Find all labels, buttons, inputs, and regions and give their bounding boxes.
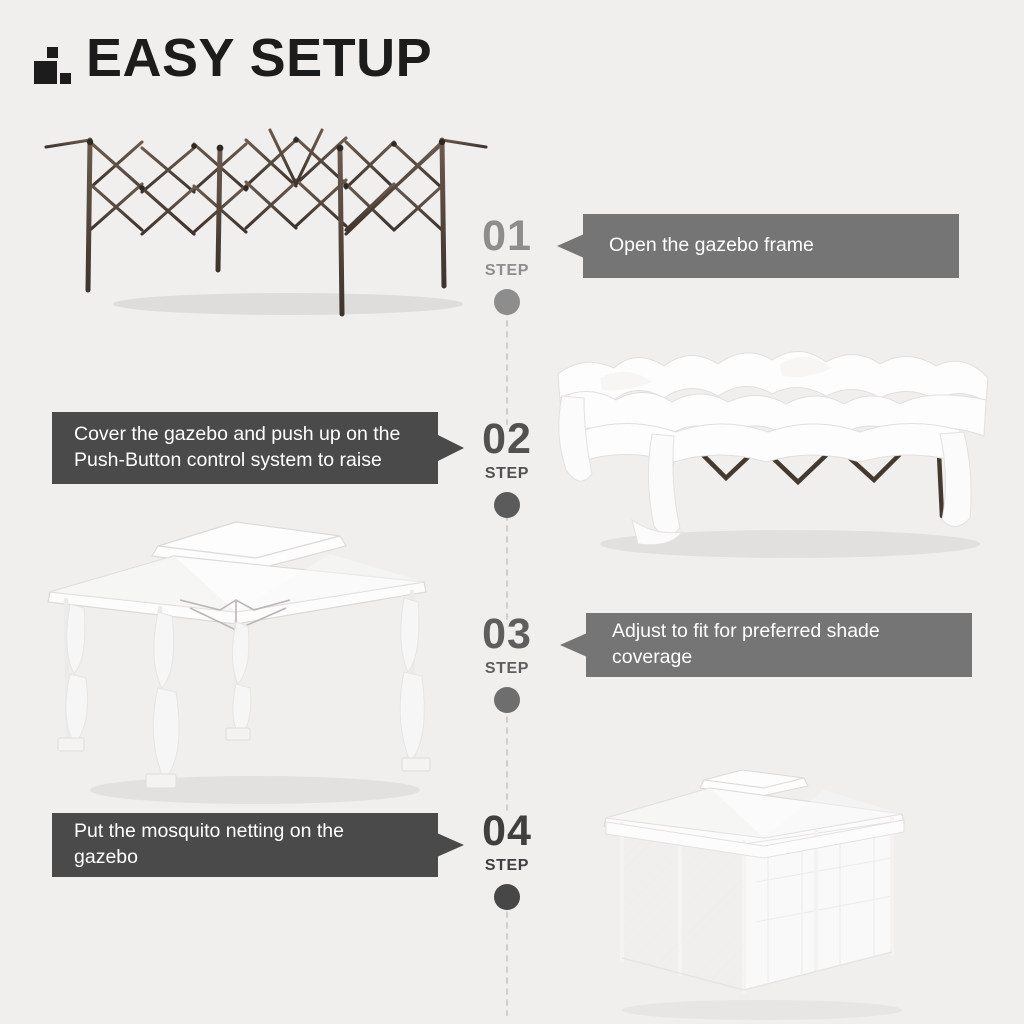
step-callout-01[interactable]: Open the gazebo frame bbox=[557, 214, 959, 278]
gazebo-frame-unfolded-photo bbox=[38, 118, 494, 318]
step-callout-text: Put the mosquito netting on the gazebo bbox=[74, 819, 412, 870]
step-dot bbox=[494, 492, 520, 518]
step-dot bbox=[494, 687, 520, 713]
step-callout-02[interactable]: Cover the gazebo and push up on the Push… bbox=[52, 412, 464, 484]
step-marker-02: 02 STEP bbox=[432, 418, 582, 518]
step-dot bbox=[494, 289, 520, 315]
easy-setup-infographic: EASY SETUP bbox=[0, 0, 1024, 1024]
step-callout-text: Cover the gazebo and push up on the Push… bbox=[74, 422, 412, 473]
step-word: STEP bbox=[432, 465, 582, 483]
step-dot bbox=[494, 884, 520, 910]
step-marker-03: 03 STEP bbox=[432, 613, 582, 713]
step-number: 01 bbox=[432, 215, 582, 258]
step-number: 03 bbox=[432, 613, 582, 656]
step-word: STEP bbox=[432, 857, 582, 875]
step-word: STEP bbox=[432, 262, 582, 280]
step-callout-text: Open the gazebo frame bbox=[609, 233, 939, 259]
step-word: STEP bbox=[432, 660, 582, 678]
step-callout-text: Adjust to fit for preferred shade covera… bbox=[612, 619, 952, 670]
step-callout-04[interactable]: Put the mosquito netting on the gazebo bbox=[52, 813, 464, 877]
dotline-3-4 bbox=[505, 703, 509, 815]
page-header: EASY SETUP bbox=[34, 34, 432, 84]
erected-gazebo-with-tied-curtains-photo bbox=[40, 512, 460, 812]
step-marker-01: 01 STEP bbox=[432, 215, 582, 315]
step-callout-03[interactable]: Adjust to fit for preferred shade covera… bbox=[560, 613, 972, 677]
dotline-1-2 bbox=[505, 307, 509, 425]
canopy-draped-over-frame-photo bbox=[540, 338, 1002, 570]
dotline-4-end bbox=[505, 898, 509, 1016]
gazebo-with-mosquito-netting-photo bbox=[592, 762, 920, 1024]
page-title: EASY SETUP bbox=[86, 34, 432, 84]
step-marker-04: 04 STEP bbox=[432, 810, 582, 910]
three-squares-logo-icon bbox=[34, 44, 70, 84]
dotline-2-3 bbox=[505, 512, 509, 622]
step-number: 02 bbox=[432, 418, 582, 461]
